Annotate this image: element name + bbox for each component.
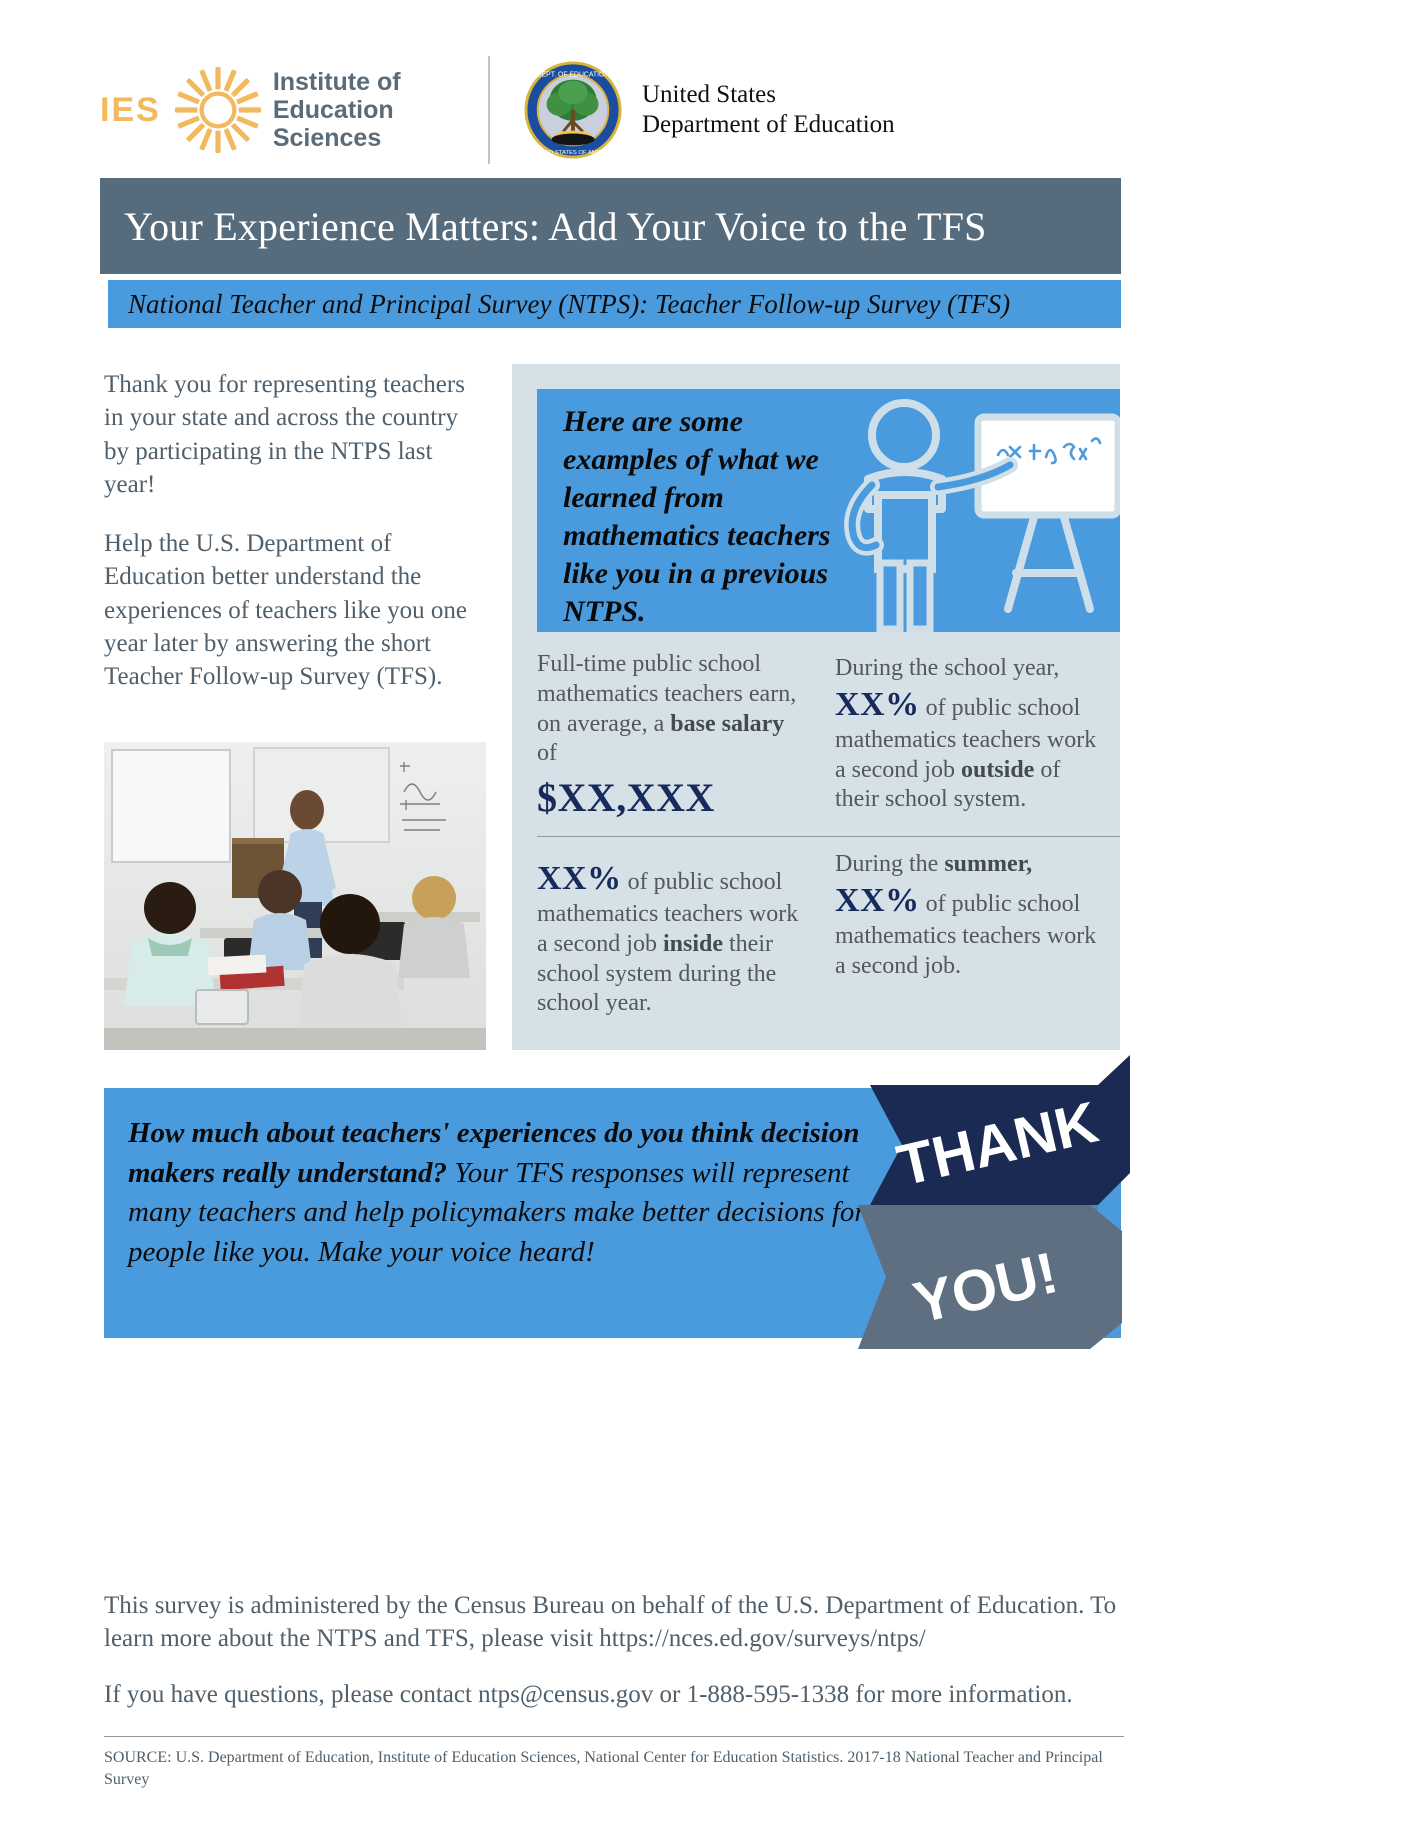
ies-logo: IES	[100, 67, 480, 153]
stat-second-job-summer: During the summer, XX% of public school …	[835, 850, 1103, 981]
findings-panel: Here are some examples of what we learne…	[512, 364, 1120, 1050]
stat-inside-bold: inside	[663, 931, 723, 957]
ies-name-line2: Education Sciences	[273, 96, 394, 152]
ies-name-line1: Institute of	[273, 68, 401, 96]
stat-outside-bold: outside	[961, 757, 1034, 783]
sun-burst-icon	[175, 67, 261, 153]
footer-paragraph-1: This survey is administered by the Censu…	[104, 1590, 1124, 1655]
cta-banner: How much about teachers' experiences do …	[104, 1088, 1121, 1338]
intro-paragraph-1: Thank you for representing teachers in y…	[104, 368, 484, 501]
stat-base-salary: Full-time public school mathematics teac…	[537, 650, 805, 823]
title-banner: Your Experience Matters: Add Your Voice …	[100, 178, 1121, 274]
stat-summer-pre: During the	[835, 851, 944, 877]
findings-headline-box: Here are some examples of what we learne…	[537, 389, 1120, 632]
svg-text:DEPT. OF EDUCATION: DEPT. OF EDUCATION	[537, 72, 610, 79]
source-note: SOURCE: U.S. Department of Education, In…	[104, 1747, 1124, 1791]
ies-name: Institute of Education Sciences	[273, 68, 480, 152]
page-subtitle: National Teacher and Principal Survey (N…	[108, 289, 1010, 320]
ed-name-line2: Department of Education	[642, 111, 895, 138]
footer-paragraph-2: If you have questions, please contact nt…	[104, 1679, 1124, 1712]
classroom-photo	[104, 742, 486, 1050]
stats-divider	[537, 836, 1120, 837]
footer-divider	[104, 1736, 1124, 1737]
stat-summer-bold: summer,	[944, 851, 1032, 877]
stat-outside-pre: During the school year,	[835, 655, 1059, 681]
footer: This survey is administered by the Censu…	[104, 1590, 1124, 1791]
stat-base-salary-mid: of	[537, 740, 557, 766]
ies-acronym: IES	[100, 91, 161, 130]
stat-base-salary-value: $XX,XXX	[537, 773, 715, 823]
stat-summer-value: XX%	[835, 882, 920, 919]
cta-message: How much about teachers' experiences do …	[128, 1114, 888, 1273]
ed-department-name: United States Department of Education	[642, 80, 895, 140]
stat-inside-value: XX%	[537, 860, 622, 897]
svg-text:UNITED STATES OF AMERICA: UNITED STATES OF AMERICA	[531, 150, 614, 156]
department-of-education-seal-icon: DEPT. OF EDUCATION UNITED STATES OF AMER…	[524, 61, 622, 159]
page-title: Your Experience Matters: Add Your Voice …	[100, 203, 987, 250]
logo-divider	[488, 56, 490, 164]
subtitle-banner: National Teacher and Principal Survey (N…	[108, 280, 1121, 328]
logo-bar: IES	[100, 52, 1120, 168]
stat-base-salary-bold: base salary	[670, 711, 784, 737]
findings-headline: Here are some examples of what we learne…	[563, 403, 863, 632]
stat-outside-value: XX%	[835, 686, 920, 723]
intro-paragraph-2: Help the U.S. Department of Education be…	[104, 527, 484, 693]
intro-text-column: Thank you for representing teachers in y…	[104, 368, 484, 719]
teacher-at-whiteboard-icon	[838, 395, 1120, 632]
ed-name-line1: United States	[642, 81, 776, 108]
stat-second-job-inside: XX% of public school mathematics teacher…	[537, 858, 805, 1019]
findings-stats-grid: Full-time public school mathematics teac…	[537, 650, 1120, 1030]
stat-second-job-outside: During the school year, XX% of public sc…	[835, 654, 1103, 815]
